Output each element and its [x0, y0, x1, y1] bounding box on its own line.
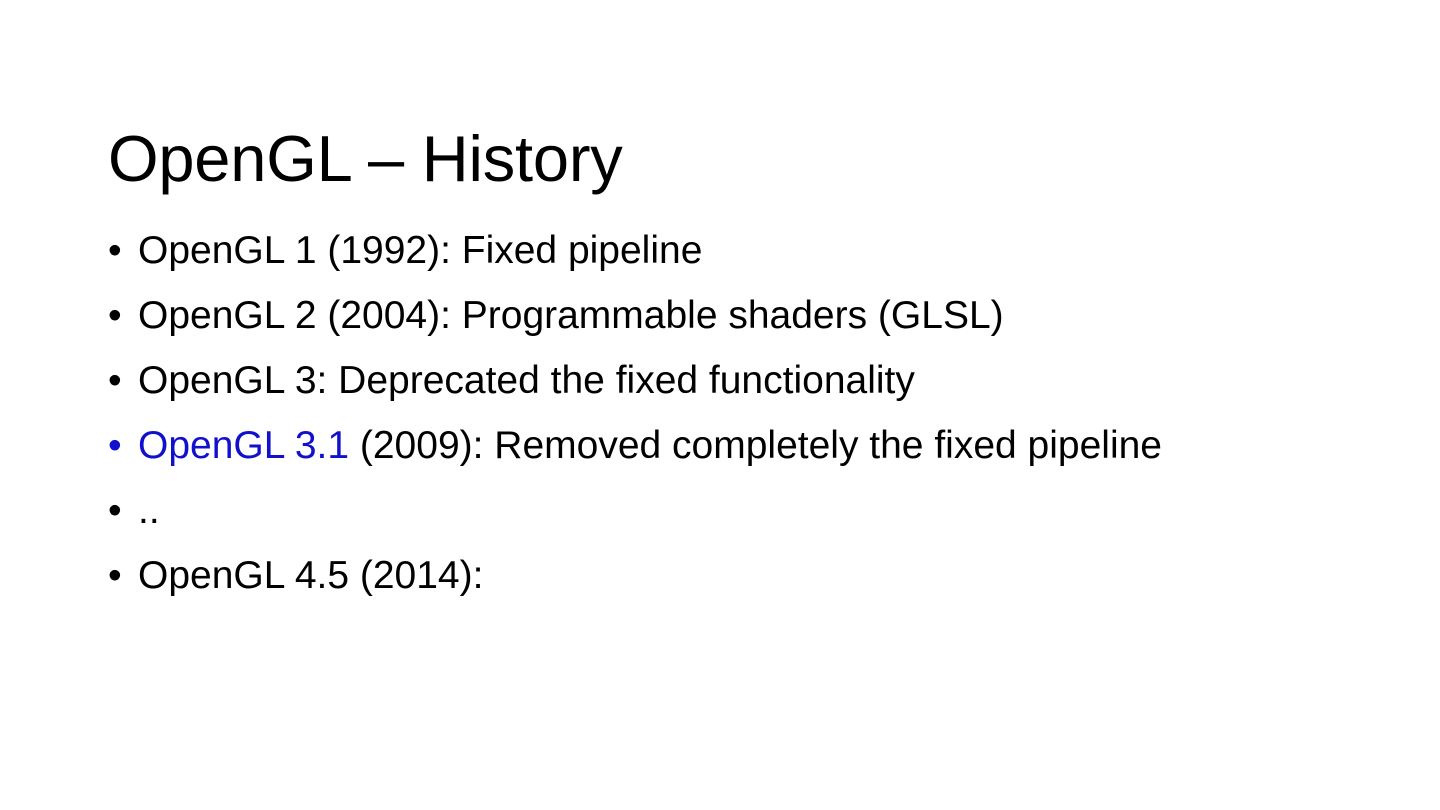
list-item-text: ..: [138, 478, 160, 543]
bullet-list: • OpenGL 1 (1992): Fixed pipeline • Open…: [108, 218, 1368, 608]
bullet-icon: •: [108, 413, 138, 478]
list-item-text: OpenGL 2 (2004): Programmable shaders (G…: [138, 283, 1004, 348]
list-item-highlighted[interactable]: • OpenGL 3.1 (2009): Removed completely …: [108, 413, 1368, 478]
list-item-text: OpenGL 3: Deprecated the fixed functiona…: [138, 348, 915, 413]
list-item[interactable]: • OpenGL 1 (1992): Fixed pipeline: [108, 218, 1368, 283]
list-item-text: OpenGL 4.5 (2014):: [138, 543, 483, 608]
list-item-highlight-run: OpenGL 3.1: [138, 424, 349, 467]
bullet-icon: •: [108, 478, 138, 543]
list-item-text: OpenGL 3.1 (2009): Removed completely th…: [138, 413, 1162, 478]
bullet-icon: •: [108, 218, 138, 283]
list-item-rest-run: (2009): Removed completely the fixed pip…: [349, 424, 1162, 467]
bullet-icon: •: [108, 283, 138, 348]
slide-title: OpenGL – History: [108, 126, 1348, 191]
list-item[interactable]: • OpenGL 4.5 (2014):: [108, 543, 1368, 608]
presentation-slide: OpenGL – History • OpenGL 1 (1992): Fixe…: [0, 0, 1440, 810]
bullet-icon: •: [108, 543, 138, 608]
list-item[interactable]: • ..: [108, 478, 1368, 543]
list-item-text: OpenGL 1 (1992): Fixed pipeline: [138, 218, 702, 283]
bullet-icon: •: [108, 348, 138, 413]
list-item[interactable]: • OpenGL 2 (2004): Programmable shaders …: [108, 283, 1368, 348]
list-item[interactable]: • OpenGL 3: Deprecated the fixed functio…: [108, 348, 1368, 413]
